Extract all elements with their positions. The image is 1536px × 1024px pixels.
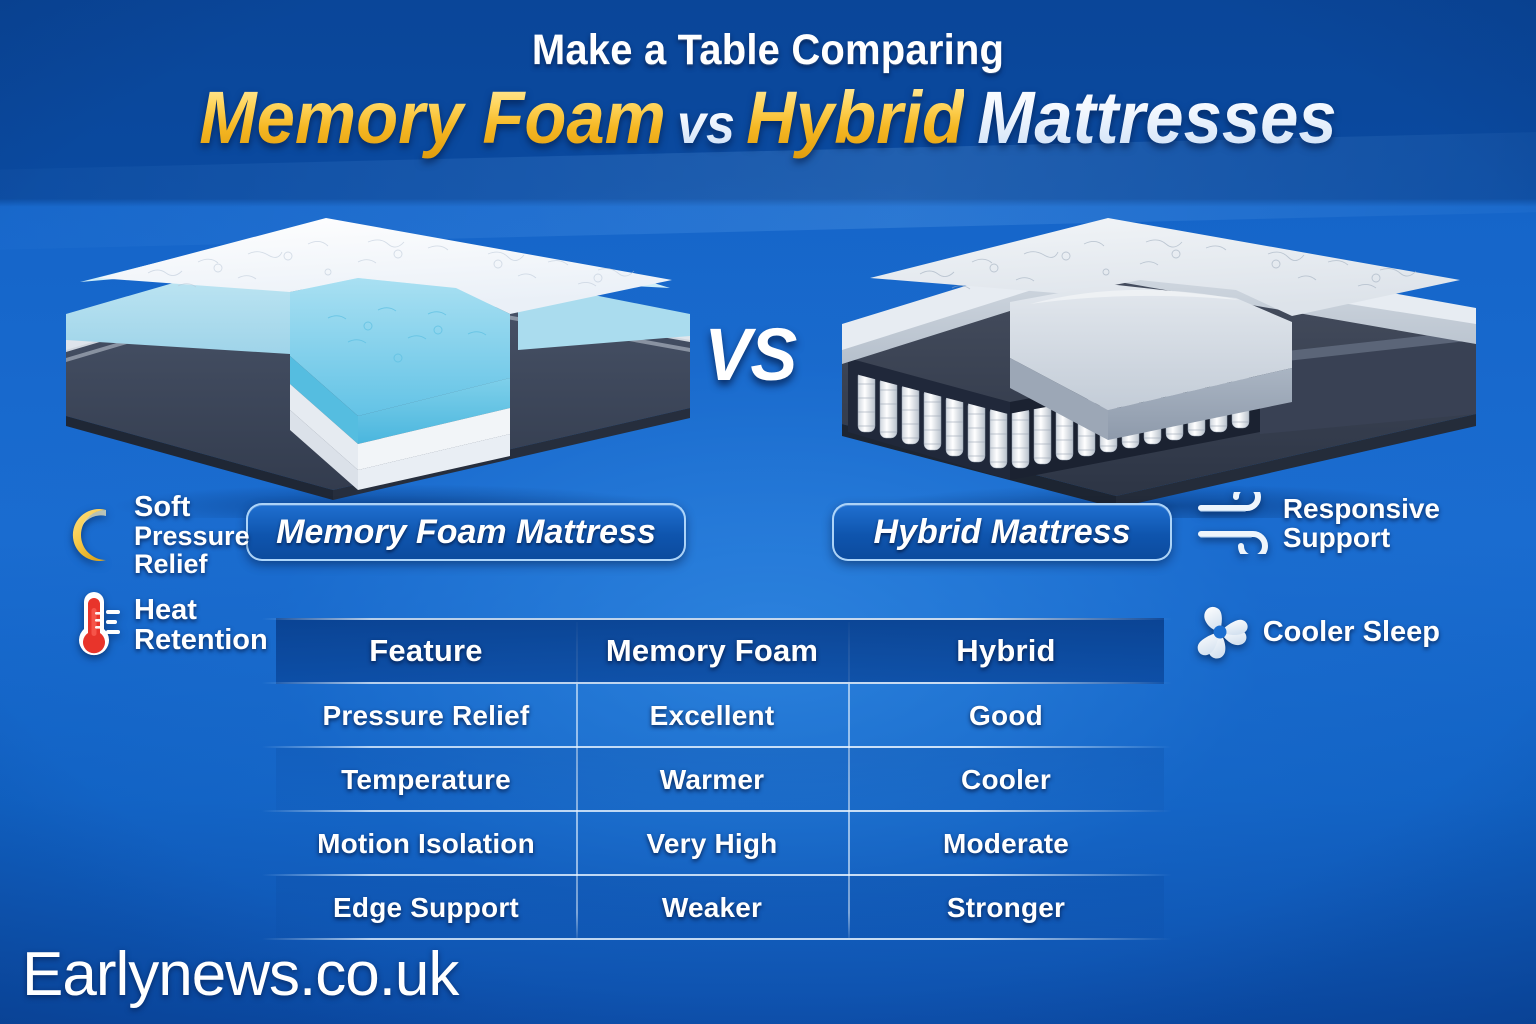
callout-responsive-text: Responsive Support [1283,494,1440,552]
memory-foam-label-badge[interactable]: Memory Foam Mattress [246,503,686,561]
cell-hybrid: Stronger [848,876,1164,940]
cell-feature: Edge Support [276,876,576,940]
table-row: Motion Isolation Very High Moderate [276,812,1164,876]
callout-soft-line3: Relief [134,549,208,579]
callout-soft-pressure-relief: Soft Pressure Relief [62,492,250,578]
cell-feature: Pressure Relief [276,684,576,748]
cell-hybrid: Good [848,684,1164,748]
table-row: Edge Support Weaker Stronger [276,876,1164,940]
memory-foam-mattress-image [58,218,698,518]
table-header-feature: Feature [276,618,576,684]
cell-hybrid: Cooler [848,748,1164,812]
callout-soft-text: Soft Pressure Relief [134,492,250,578]
header-hybrid: Hybrid [746,76,964,159]
header-memory-foam: Memory Foam [199,76,666,159]
table-header-row: Feature Memory Foam Hybrid [276,618,1164,684]
watermark: Earlynews.co.uk [22,939,458,1010]
callout-responsive-line1: Responsive [1283,493,1440,524]
cell-memory-foam: Very High [576,812,848,876]
table-header-memory-foam: Memory Foam [576,618,848,684]
callout-heat-retention: Heat Retention [62,592,268,658]
callout-responsive-line2: Support [1283,522,1390,553]
header-line-2: Memory FoamvsHybridMattresses [54,79,1482,157]
callout-soft-line1: Soft [134,492,250,522]
cell-memory-foam: Warmer [576,748,848,812]
airflow-icon [1195,492,1273,554]
header-mattresses: Mattresses [964,76,1337,159]
fan-icon [1187,600,1253,664]
table-header-hybrid: Hybrid [848,618,1164,684]
comparison-table: Feature Memory Foam Hybrid Pressure Reli… [276,618,1164,940]
callout-soft-line2: Pressure [134,521,250,551]
header-vs: vs [666,92,746,155]
cell-feature: Temperature [276,748,576,812]
callout-heat-line1: Heat [134,594,197,626]
moon-icon [62,504,124,566]
hybrid-label-badge[interactable]: Hybrid Mattress [832,503,1172,561]
table-rule [262,618,1172,620]
hybrid-mattress-image [840,218,1480,518]
header-line-1: Make a Table Comparing [54,26,1482,75]
thermometer-icon [62,592,124,658]
cell-memory-foam: Excellent [576,684,848,748]
cell-feature: Motion Isolation [276,812,576,876]
table-row: Temperature Warmer Cooler [276,748,1164,812]
callout-responsive-support: Responsive Support [1195,492,1440,554]
cell-memory-foam: Weaker [576,876,848,940]
callout-cooler-sleep: Cooler Sleep [1187,600,1440,664]
vs-divider: VS [704,312,796,397]
callout-cooler-text: Cooler Sleep [1263,617,1440,647]
infographic-canvas: Make a Table Comparing Memory FoamvsHybr… [0,0,1536,1024]
callout-heat-line2: Retention [134,624,268,656]
header-block: Make a Table Comparing Memory FoamvsHybr… [0,26,1536,157]
cell-hybrid: Moderate [848,812,1164,876]
table-row: Pressure Relief Excellent Good [276,684,1164,748]
callout-heat-text: Heat Retention [134,595,268,655]
